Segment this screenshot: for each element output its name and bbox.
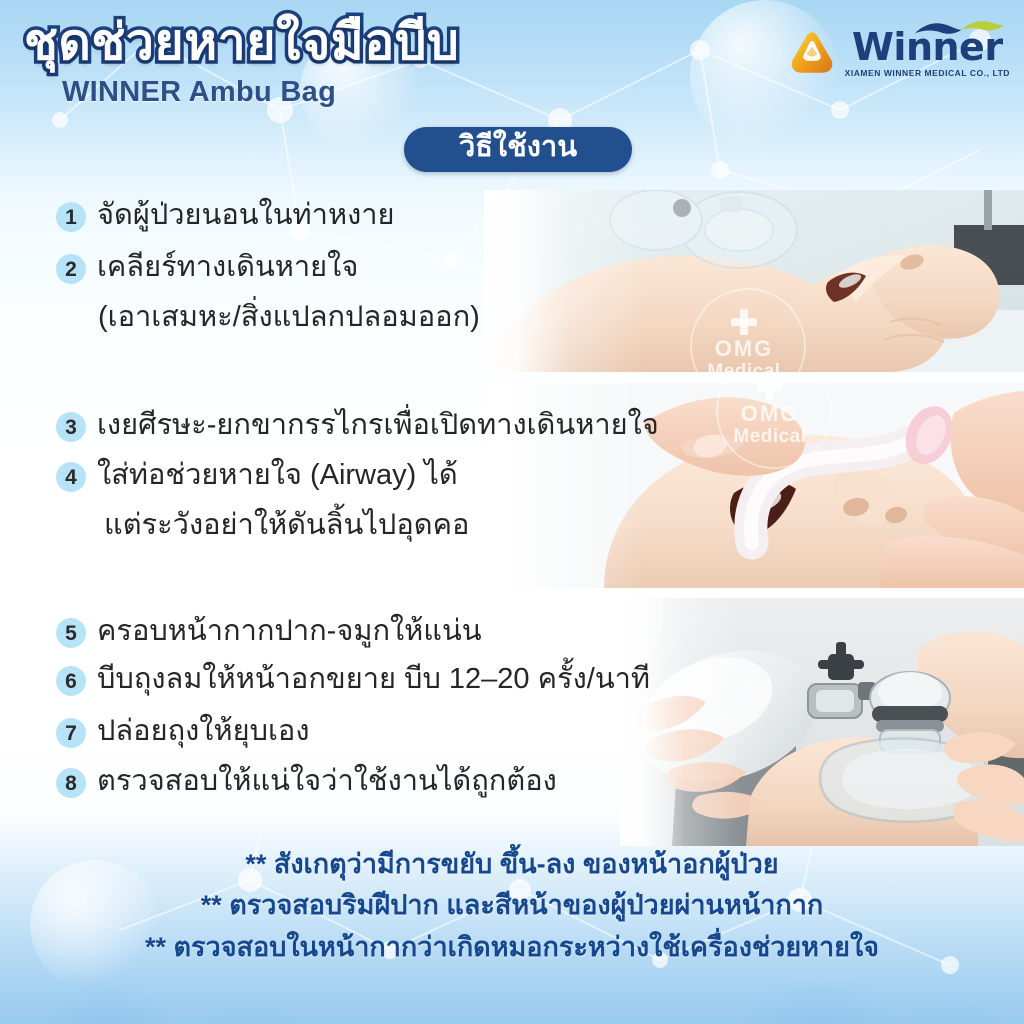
footer-note-3: ** ตรวจสอบในหน้ากากว่าเกิดหมอกระหว่างใช้… [145, 931, 879, 963]
footer-notes: ** สังเกตุว่ามีการขยับ ขึ้น-ลง ของหน้าอก… [0, 848, 1024, 963]
step-number-badge: 4 [56, 462, 86, 492]
step-item-4: 4 ใส่ท่อช่วยหายใจ (Airway) ได้ [56, 458, 458, 493]
step-item-3: 3 เงยศีรษะ-ยกขากรรไกรเพื่อเปิดทางเดินหาย… [56, 408, 659, 443]
step-number-badge: 1 [56, 202, 86, 232]
step-number-badge: 8 [56, 768, 86, 798]
step-item-7: 7 ปล่อยถุงให้ยุบเอง [56, 714, 309, 749]
step-text: เคลียร์ทางเดินหายใจ [97, 250, 358, 285]
step-text: ปล่อยถุงให้ยุบเอง [97, 714, 309, 749]
step-text: ตรวจสอบให้แน่ใจว่าใช้งานได้ถูกต้อง [97, 764, 557, 799]
step-item-6: 6 บีบถุงลมให้หน้าอกขยาย บีบ 12–20 ครั้ง/… [56, 662, 650, 697]
step-text: ครอบหน้ากากปาก-จมูกให้แน่น [97, 614, 482, 649]
step-4-continuation: แต่ระวังอย่าให้ดันลิ้นไปอุดคอ [104, 508, 469, 543]
footer-note-1: ** สังเกตุว่ามีการขยับ ขึ้น-ลง ของหน้าอก… [245, 848, 778, 880]
step-number-badge: 3 [56, 412, 86, 442]
step-item-5: 5 ครอบหน้ากากปาก-จมูกให้แน่น [56, 614, 482, 649]
step-item-2: 2 เคลียร์ทางเดินหายใจ [56, 250, 358, 285]
step-text: เงยศีรษะ-ยกขากรรไกรเพื่อเปิดทางเดินหายใจ [97, 408, 659, 443]
step-number-badge: 7 [56, 718, 86, 748]
step-2-continuation: (เอาเสมหะ/สิ่งแปลกปลอมออก) [98, 300, 480, 335]
step-item-8: 8 ตรวจสอบให้แน่ใจว่าใช้งานได้ถูกต้อง [56, 764, 557, 799]
step-text: จัดผู้ป่วยนอนในท่าหงาย [97, 198, 395, 233]
footer-note-2: ** ตรวจสอบริมฝีปาก และสีหน้าของผู้ป่วยผ่… [201, 889, 824, 921]
poster-canvas: ชุดช่วยหายใจมือบีบ WINNER Ambu Bag [0, 0, 1024, 1024]
step-text: ใส่ท่อช่วยหายใจ (Airway) ได้ [97, 458, 458, 493]
step-number-badge: 5 [56, 618, 86, 648]
step-item-1: 1 จัดผู้ป่วยนอนในท่าหงาย [56, 198, 395, 233]
step-number-badge: 2 [56, 254, 86, 284]
step-text: บีบถุงลมให้หน้าอกขยาย บีบ 12–20 ครั้ง/นา… [97, 662, 650, 697]
step-number-badge: 6 [56, 666, 86, 696]
